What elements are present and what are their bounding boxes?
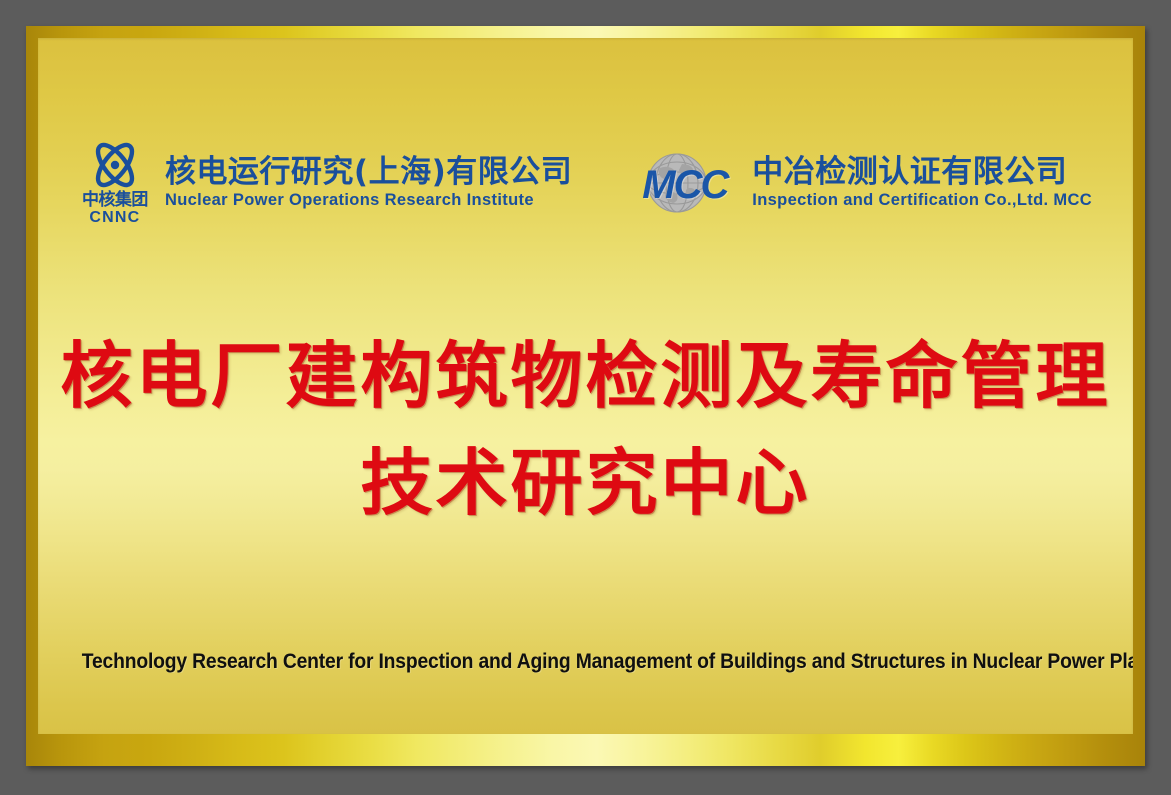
- plaque-gold-frame: 中核集团 CNNC 核电运行研究(上海)有限公司 Nuclear Power O…: [26, 26, 1145, 766]
- plaque-inner-panel: 中核集团 CNNC 核电运行研究(上海)有限公司 Nuclear Power O…: [38, 38, 1133, 734]
- title-line-2: 技术研究中心: [38, 430, 1133, 537]
- plaque-subtitle: Technology Research Center for Inspectio…: [82, 650, 1089, 674]
- mcc-company-cn: 中冶检测认证有限公司: [752, 156, 1092, 189]
- cnnc-company-en: Nuclear Power Operations Research Instit…: [165, 191, 572, 209]
- logo-row: 中核集团 CNNC 核电运行研究(上海)有限公司 Nuclear Power O…: [38, 130, 1133, 235]
- cnnc-chinese-label: 中核集团: [82, 192, 148, 210]
- cnnc-mark: 中核集团 CNNC: [79, 139, 151, 227]
- plaque-scene: 中核集团 CNNC 核电运行研究(上海)有限公司 Nuclear Power O…: [0, 0, 1171, 795]
- mcc-company-en: Inspection and Certification Co.,Ltd. MC…: [752, 191, 1092, 209]
- mcc-letters-label: MCC: [642, 165, 738, 205]
- mcc-company-text: 中冶检测认证有限公司 Inspection and Certification …: [752, 156, 1092, 210]
- logo-mcc: MCC 中冶检测认证有限公司 Inspection and Certificat…: [642, 152, 1092, 214]
- logo-cnnc: 中核集团 CNNC 核电运行研究(上海)有限公司 Nuclear Power O…: [79, 139, 572, 227]
- cnnc-company-cn: 核电运行研究(上海)有限公司: [165, 156, 572, 189]
- atom-nucleus-icon: [111, 160, 119, 168]
- title-line-1: 核电厂建构筑物检测及寿命管理: [38, 323, 1133, 430]
- cnnc-acronym-label: CNNC: [89, 210, 140, 226]
- atom-icon: [86, 139, 144, 191]
- cnnc-company-text: 核电运行研究(上海)有限公司 Nuclear Power Operations …: [165, 156, 572, 210]
- plaque-title: 核电厂建构筑物检测及寿命管理 技术研究中心: [38, 323, 1133, 536]
- mcc-mark: MCC: [642, 152, 738, 214]
